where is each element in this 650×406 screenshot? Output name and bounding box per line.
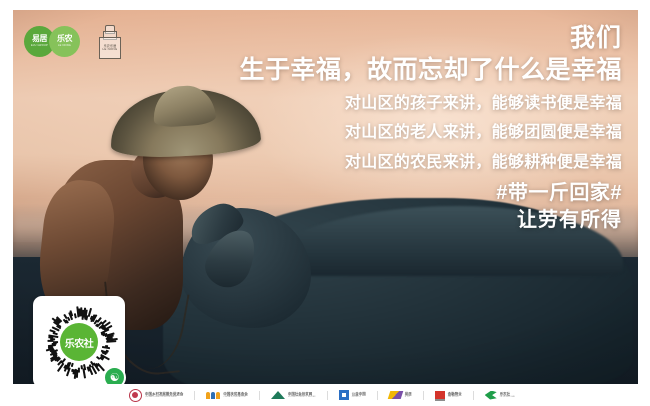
lenong-label-en: LE NONG [58, 45, 71, 48]
headline-small: 我们 [239, 24, 622, 52]
partner-logo: 中国扶贫基金会CHINA FOUNDATION [206, 392, 247, 399]
partner-logo: 金融物业JIN RONG [435, 391, 462, 400]
partner-separator [423, 391, 424, 400]
partner-text: 中国乡村发展服务促进会CHINA RURAL DEVELOPMENT [145, 392, 183, 399]
partner-text: 乐农社LE NONG SHE [500, 392, 515, 399]
partner-logo: 乐农社LE NONG SHE [485, 391, 515, 400]
partner-text: 易居E JU [405, 392, 412, 399]
three-hands-icon [206, 392, 220, 399]
sub-line-2: 对山区的老人来讲，能够团圆便是幸福 [239, 120, 622, 146]
red-flag-icon [435, 391, 445, 400]
headline-block: 我们 生于幸福，故而忘却了什么是幸福 对山区的孩子来讲，能够读书便是幸福 对山区… [239, 24, 622, 176]
partner-logo: 公益中国GONG YI [339, 390, 366, 400]
green-leaf-icon [485, 391, 497, 400]
partner-separator [259, 391, 260, 400]
campaign-slogan: 让劳有所得 [496, 207, 622, 234]
campaign-hashtag: #带一斤回家# [496, 180, 622, 207]
qr-code-card[interactable]: 乐农社 ☯ [33, 296, 125, 388]
sub-line-1: 对山区的孩子来讲，能够读书便是幸福 [239, 91, 622, 117]
partner-subtitle: SOCIAL POVERTY RELIEF [288, 396, 316, 399]
partner-subtitle: CHINA RURAL DEVELOPMENT [145, 396, 183, 399]
partner-subtitle: LE NONG SHE [500, 396, 515, 399]
lenong-label-cn: 乐农 [57, 35, 72, 43]
partner-text: 中国社会扶贫网SOCIAL POVERTY RELIEF [288, 392, 316, 399]
sub-line-3: 对山区的农民来讲，能够耕种便是幸福 [239, 150, 622, 176]
partner-text: 中国扶贫基金会CHINA FOUNDATION [223, 392, 247, 399]
headline-main: 生于幸福，故而忘却了什么是幸福 [239, 54, 622, 87]
primary-brand-logo: 易居 EJU GROUP 乐农 LE NONG [22, 26, 82, 57]
partner-subtitle: E JU [405, 396, 412, 399]
parallelogram-icon [389, 391, 402, 399]
seal-circle-icon [129, 389, 142, 402]
partner-separator [194, 391, 195, 400]
lenong-circle-icon: 乐农 LE NONG [49, 26, 80, 57]
eju-label-en: EJU GROUP [31, 45, 48, 48]
partner-separator [377, 391, 378, 400]
partner-logo-strip: 中国乡村发展服务促进会CHINA RURAL DEVELOPMENT中国扶贫基金… [0, 384, 650, 406]
bottle-body: 乐农乐居 LE NONG [99, 37, 121, 59]
partner-separator [327, 391, 328, 400]
qr-center-label: 乐农社 [60, 323, 98, 361]
partner-logo: 易居E JU [389, 391, 412, 399]
blue-square-icon [339, 390, 349, 400]
poster-root: 易居 EJU GROUP 乐农 LE NONG 乐农乐居 LE NONG 我们 … [0, 0, 650, 406]
partner-subtitle: CHINA FOUNDATION [223, 396, 247, 399]
partner-separator [473, 391, 474, 400]
partner-logo: 中国乡村发展服务促进会CHINA RURAL DEVELOPMENT [129, 389, 183, 402]
tagline-block: #带一斤回家# 让劳有所得 [496, 180, 622, 234]
eju-label-cn: 易居 [32, 35, 47, 43]
bottle-logo-icon: 乐农乐居 LE NONG [98, 25, 120, 58]
partner-text: 公益中国GONG YI [352, 392, 366, 399]
partner-logo: 中国社会扶贫网SOCIAL POVERTY RELIEF [271, 391, 316, 399]
partner-text: 金融物业JIN RONG [448, 392, 462, 399]
brand-logo-row: 易居 EJU GROUP 乐农 LE NONG 乐农乐居 LE NONG [22, 25, 120, 58]
partner-subtitle: GONG YI [352, 396, 366, 399]
bottle-label-line2: LE NONG [103, 48, 118, 51]
partner-subtitle: JIN RONG [448, 396, 462, 399]
green-roof-icon [271, 391, 285, 399]
